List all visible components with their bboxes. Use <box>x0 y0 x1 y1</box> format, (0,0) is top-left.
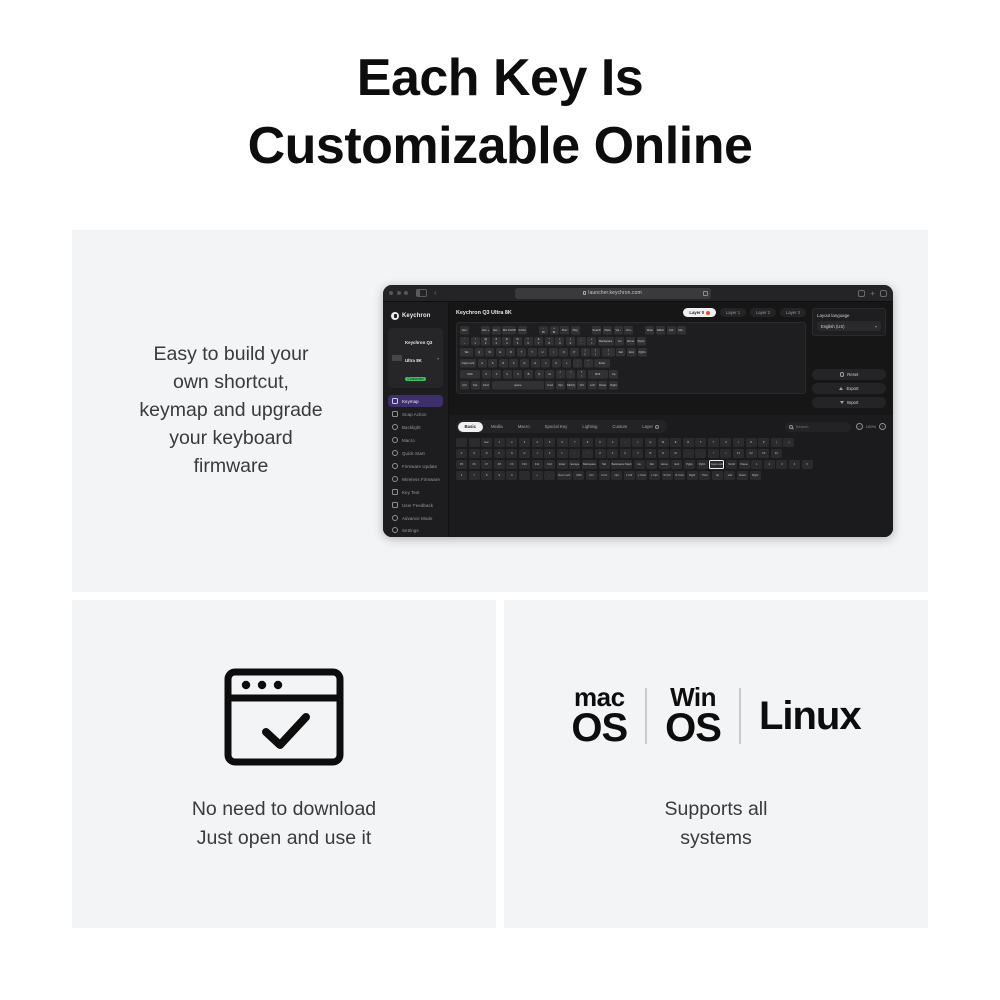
top-card-copy-line: own shortcut, <box>96 368 366 396</box>
keyboard-key[interactable]: Mute <box>645 326 654 335</box>
refresh-icon[interactable] <box>703 291 708 296</box>
sidebar-item-backlight[interactable]: Backlight <box>388 421 443 433</box>
key-picker-key[interactable]: - <box>620 438 631 447</box>
sun-icon <box>392 424 398 430</box>
keyboard-key[interactable]: L <box>562 359 571 368</box>
key-picker-key[interactable]: Tab <box>599 460 610 469</box>
key-picker-key[interactable]: F5 <box>456 460 467 469</box>
brand-logo: Keychron <box>391 312 443 320</box>
sidebar-item-label: User Feedback <box>402 503 433 508</box>
top-card-copy-line: keymap and upgrade <box>96 396 366 424</box>
key-picker-key[interactable]: F8 <box>494 460 505 469</box>
keyboard-key[interactable]: Del <box>616 348 625 357</box>
keyboard-key[interactable]: A <box>478 359 487 368</box>
keyboard-key[interactable]: #3 <box>492 337 501 346</box>
key-picker-key[interactable]: [ <box>771 438 782 447</box>
keyboard-key[interactable]: Effect <box>656 326 665 335</box>
tab-macro[interactable]: Macro <box>511 422 537 432</box>
key-picker-key[interactable]: Backspace Slash <box>611 460 632 469</box>
key-picker-key[interactable]: . <box>695 449 706 458</box>
zoom-in-icon[interactable]: + <box>879 423 886 430</box>
sidebar-item-user-feedback[interactable]: User Feedback <box>388 499 443 511</box>
key-picker-key[interactable]: L Ctrl <box>624 471 635 480</box>
sidebar-item-label: Key Test <box>402 490 420 495</box>
key-picker-key[interactable]: . <box>519 471 530 480</box>
macro-icon <box>392 437 398 443</box>
keyboard-row: EscEsc +Esc -Mic On/OffIn/Out-Br+BrPrevP… <box>460 326 802 335</box>
tab-lighting[interactable]: Lighting <box>575 422 604 432</box>
keyboard-layout[interactable]: EscEsc +Esc -Mic On/OffIn/Out-Br+BrPrevP… <box>456 322 806 394</box>
tab-label: Custom <box>612 424 627 429</box>
key-picker-key[interactable]: End <box>671 460 682 469</box>
sidebar-item-wireless-firmware[interactable]: Wireless Firmware <box>388 473 443 485</box>
tab-layer[interactable]: Layer <box>635 422 666 432</box>
page-root: Each Key Is Customizable Online Easy to … <box>0 0 1000 1000</box>
layout-language-select[interactable]: English (US) ▾ <box>817 321 881 331</box>
key-picker-key[interactable]: L <box>557 449 568 458</box>
keyboard-key[interactable]: Right <box>609 381 618 390</box>
keyboard-key[interactable]: >. <box>566 370 575 379</box>
key-picker-key[interactable]: Escape <box>569 460 580 469</box>
keyboard-key[interactable]: Cmd <box>545 381 554 390</box>
key-picker-key[interactable]: S <box>469 449 480 458</box>
key-picker-key[interactable]: - <box>544 471 555 480</box>
key-picker-key[interactable]: 0 <box>506 471 517 480</box>
reset-button-label: Reset <box>847 372 858 377</box>
keyboard-key[interactable]: Shift <box>588 370 608 379</box>
keyboard-key[interactable]: S <box>488 359 497 368</box>
top-card-copy-line: Easy to build your <box>96 340 366 368</box>
key-picker-key[interactable]: F12 <box>544 460 555 469</box>
chevron-left-icon[interactable]: ‹ <box>434 289 437 297</box>
key-picker-key[interactable]: F <box>494 449 505 458</box>
key-picker-key[interactable]: R Ctrl <box>662 471 673 480</box>
key-picker-key[interactable]: Home <box>659 460 670 469</box>
key-picker-key[interactable]: + <box>532 471 543 480</box>
key-picker-row: ASDFGHJKL;'ZXCVBNM,./\F1F2F3F4 <box>456 449 886 458</box>
keyboard-key[interactable]: Home <box>626 337 635 346</box>
keyboard-key[interactable]: F <box>509 359 518 368</box>
key-picker-key[interactable]: W <box>658 438 669 447</box>
sidebar-nav: Keymap Snap Action Backlight Macro <box>388 395 443 524</box>
key-picker-toolbar: Basic Media Macro Special Key Lighting C… <box>456 420 886 433</box>
keyboard-key[interactable]: O <box>559 348 568 357</box>
keyboard-key[interactable]: Tab <box>460 348 473 357</box>
sidebar-item-key-test[interactable]: Key Test <box>388 486 443 498</box>
keyboard-key[interactable]: Ctrl <box>460 381 469 390</box>
keyboard-key[interactable]: Play <box>571 326 580 335</box>
key-picker-key[interactable]: Del <box>646 460 657 469</box>
layer-tab-1[interactable]: Layer 1 <box>720 308 746 317</box>
keyboard-key[interactable]: Opt <box>556 381 565 390</box>
keyboard-key[interactable]: <, <box>556 370 565 379</box>
layout-language-panel: Layout language English (US) ▾ <box>812 308 886 336</box>
chevron-down-icon[interactable]: ▾ <box>437 356 439 361</box>
reset-button[interactable]: Reset <box>812 369 886 380</box>
keyboard-key[interactable]: Mute <box>603 326 612 335</box>
layer-tab-label: Layer 0 <box>689 310 704 315</box>
sidebar-item-label: Macro <box>402 438 415 443</box>
keyboard-key[interactable]: %5 <box>513 337 522 346</box>
key-picker-key[interactable]: F3 <box>758 449 769 458</box>
keyboard-key[interactable]: &7 <box>534 337 543 346</box>
keyboard-key[interactable]: |\ <box>602 348 615 357</box>
keyboard-key[interactable]: Up <box>609 370 618 379</box>
key-picker-key[interactable]: P <box>758 438 769 447</box>
key-picker-key[interactable]: F4 <box>771 449 782 458</box>
key-picker-key[interactable]: Opt <box>611 471 622 480</box>
key-picker-key[interactable]: J <box>532 449 543 458</box>
key-picker-key[interactable]: R Cmd <box>674 471 685 480</box>
info-icon <box>655 425 659 429</box>
key-picker-key[interactable]: 4 <box>789 460 800 469</box>
layer-tab-label: Layer 2 <box>756 310 770 315</box>
layer-tab-2[interactable]: Layer 2 <box>750 308 776 317</box>
url-bar[interactable]: launcher.keychron.com <box>515 288 711 299</box>
keyboard-key[interactable]: Vol - <box>614 326 623 335</box>
import-button[interactable]: Import <box>812 397 886 408</box>
sidebar-item-advance-mode[interactable]: Advance Mode <box>388 512 443 524</box>
keyboard-key[interactable]: N <box>535 370 544 379</box>
keyboard-key[interactable]: $4 <box>502 337 511 346</box>
key-picker-key[interactable]: Esc <box>481 438 492 447</box>
caption-line: No need to download <box>72 795 496 824</box>
keyboard-key[interactable]: Opt <box>471 381 480 390</box>
keyboard-key[interactable]: J <box>541 359 550 368</box>
key-picker-key[interactable]: Pause <box>739 460 750 469</box>
os-logo-linux: Linux <box>759 698 861 735</box>
keyboard-key[interactable]: }] <box>591 348 600 357</box>
device-selector[interactable]: Keychron Q3 Ultra 8K Connected ▾ <box>388 328 443 388</box>
key-picker-key[interactable]: Num Lock <box>557 471 572 480</box>
key-picker-key[interactable]: Z <box>595 449 606 458</box>
chevron-down-icon: ▾ <box>875 324 877 329</box>
tab-label: Special Key <box>545 424 568 429</box>
keyboard-pane: Keychron Q3 Ultra 8K Layer 0 Layer 1 <box>456 308 806 408</box>
key-picker-key[interactable]: 9 <box>494 471 505 480</box>
keyboard-key[interactable]: += <box>587 337 596 346</box>
keyboard-key[interactable]: Ctrl <box>577 381 586 390</box>
key-picker-key[interactable]: 3 <box>519 438 530 447</box>
keyboard-key-spacer <box>471 326 480 335</box>
snap-icon <box>392 411 398 417</box>
key-picker-grid[interactable]: `Esc1234567890-=QWERTYUIOP[]ASDFGHJKL;'Z… <box>456 438 886 480</box>
key-picker-key[interactable]: Right <box>750 471 761 480</box>
device-text: Keychron Q3 Ultra 8K Connected <box>405 331 434 385</box>
keyboard-key[interactable]: Down <box>598 381 607 390</box>
keyboard-key[interactable]: B <box>524 370 533 379</box>
sidebar-item-settings[interactable]: Settings <box>388 524 443 536</box>
layout-language-title: Layout language <box>817 313 881 318</box>
key-picker-key[interactable]: H <box>519 449 530 458</box>
key-picker-key[interactable]: 1 <box>494 438 505 447</box>
key-picker-key[interactable]: 8 <box>582 438 593 447</box>
key-picker-key[interactable]: 0 <box>607 438 618 447</box>
sidebar-toggle-icon[interactable] <box>416 289 427 297</box>
keyboard-key[interactable]: Vol + <box>624 326 633 335</box>
sidebar-item-label: Settings <box>402 528 419 533</box>
key-picker-key[interactable]: 6 <box>557 438 568 447</box>
keyboard-key[interactable]: -Br <box>539 326 548 335</box>
layer-active-dot-icon <box>706 311 710 315</box>
keyboard-key[interactable]: Shift <box>460 370 480 379</box>
key-picker-key[interactable]: Ins <box>634 460 645 469</box>
key-picker-key[interactable]: V <box>632 449 643 458</box>
keyboard-key[interactable]: Search <box>592 326 602 335</box>
keyboard-key[interactable]: Mic On/Off <box>502 326 516 335</box>
sidebar-item-macro[interactable]: Macro <box>388 434 443 446</box>
key-picker-key[interactable]: = <box>632 438 643 447</box>
key-picker-key[interactable]: 1 <box>751 460 762 469</box>
zoom-level: 100% <box>866 424 876 429</box>
keyboard-key[interactable]: D <box>499 359 508 368</box>
keyboard-key[interactable]: Cmd <box>481 381 490 390</box>
key-picker-key[interactable]: ; <box>569 449 580 458</box>
key-picker-key[interactable]: F10 <box>519 460 530 469</box>
minimize-icon[interactable] <box>397 291 401 295</box>
key-picker-key[interactable]: ` <box>469 438 480 447</box>
keyboard-key[interactable]: PgUp <box>637 337 646 346</box>
key-picker-key[interactable]: G <box>506 449 517 458</box>
keyboard-key[interactable]: M <box>545 370 554 379</box>
keyboard-key[interactable]: space <box>492 381 544 390</box>
keyboard-key[interactable]: _- <box>577 337 586 346</box>
key-picker-key[interactable]: 7 <box>569 438 580 447</box>
key-picker-key[interactable]: I <box>733 438 744 447</box>
bottom-right-caption: Supports all systems <box>504 795 928 853</box>
key-picker-key[interactable]: 4 <box>532 438 543 447</box>
sidebar-item-label: Wireless Firmware <box>402 477 440 482</box>
app-body: Keychron Keychron Q3 Ultra 8K Connected … <box>383 302 893 537</box>
keyboard-key[interactable]: )0 <box>566 337 575 346</box>
tab-label: Media <box>491 424 503 429</box>
key-picker-key[interactable]: 2 <box>764 460 775 469</box>
key-picker-key[interactable]: Print <box>699 471 710 480</box>
url-text: launcher.keychron.com <box>588 290 642 296</box>
export-icon <box>839 387 843 390</box>
keyboard-key[interactable]: P <box>570 348 579 357</box>
sidebar-item-label: Firmware Update <box>402 464 437 469</box>
keyboard-key[interactable]: :; <box>573 359 582 368</box>
key-picker-spacer <box>456 438 467 447</box>
key-picker-key[interactable]: Down <box>737 471 748 480</box>
key-picker-key[interactable]: E <box>670 438 681 447</box>
tab-media[interactable]: Media <box>484 422 510 432</box>
export-button[interactable]: Export <box>812 383 886 394</box>
key-picker-key[interactable]: X <box>607 449 618 458</box>
key-picker-key[interactable]: Up <box>712 471 723 480</box>
key-picker-key[interactable]: C <box>620 449 631 458</box>
key-picker-key[interactable]: Cmd <box>599 471 610 480</box>
keyboard-key[interactable]: (9 <box>555 337 564 346</box>
keyboard-key[interactable]: Prev <box>560 326 569 335</box>
key-picker-key[interactable]: M <box>670 449 681 458</box>
keyboard-key[interactable]: "' <box>584 359 593 368</box>
keyboard-key[interactable]: Esc - <box>492 326 501 335</box>
tab-special-key[interactable]: Special Key <box>538 422 575 432</box>
key-picker-key[interactable]: N <box>658 449 669 458</box>
keyboard-key[interactable]: Z <box>482 370 491 379</box>
key-picker-key[interactable]: 6 <box>456 471 467 480</box>
key-picker-key[interactable]: 5 <box>544 438 555 447</box>
key-picker-key[interactable]: F7 <box>481 460 492 469</box>
chat-icon <box>392 502 398 508</box>
caption-line: systems <box>504 824 928 853</box>
key-picker-key[interactable]: PgDn <box>697 460 708 469</box>
key-picker-key[interactable]: U <box>720 438 731 447</box>
key-picker-key[interactable]: F9 <box>506 460 517 469</box>
sidebar-item-keymap[interactable]: Keymap <box>388 395 443 407</box>
app-sidebar: Keychron Keychron Q3 Ultra 8K Connected … <box>383 302 449 537</box>
key-picker-key[interactable]: L Cmd <box>636 471 647 480</box>
key-picker-key[interactable]: , <box>683 449 694 458</box>
keyboard-key[interactable]: H <box>531 359 540 368</box>
key-picker-key[interactable]: Q <box>645 438 656 447</box>
keyboard-key[interactable]: R <box>506 348 515 357</box>
search-icon <box>789 425 793 429</box>
reset-icon <box>840 372 845 377</box>
tab-label: Basic <box>465 424 476 429</box>
keyboard-key[interactable]: Backspace <box>598 337 614 346</box>
keyboard-key[interactable]: K <box>552 359 561 368</box>
keyboard-key[interactable]: Esc + <box>481 326 490 335</box>
key-picker-key[interactable]: O <box>746 438 757 447</box>
keyboard-key[interactable]: V <box>513 370 522 379</box>
keyboard-key[interactable]: E <box>496 348 505 357</box>
sidebar-item-label: Backlight <box>402 425 421 430</box>
keyboard-key[interactable]: T <box>517 348 526 357</box>
tab-basic[interactable]: Basic <box>458 422 483 432</box>
key-picker-key[interactable]: L Opt <box>649 471 660 480</box>
key-picker-key[interactable]: F11 <box>532 460 543 469</box>
keyboard-key[interactable]: {[ <box>581 348 590 357</box>
browser-actions: + <box>858 290 887 297</box>
key-picker-key[interactable]: D <box>481 449 492 458</box>
key-picker-key[interactable]: 2 <box>506 438 517 447</box>
key-picker-key[interactable]: ' <box>582 449 593 458</box>
key-picker-key[interactable]: 7 <box>469 471 480 480</box>
os-logo-winos: Win OS <box>665 686 721 747</box>
close-icon[interactable] <box>389 291 393 295</box>
key-picker-key[interactable]: Enter <box>557 460 568 469</box>
keyboard-key[interactable]: X <box>492 370 501 379</box>
key-picker-key[interactable]: F6 <box>469 460 480 469</box>
keyboard-key[interactable]: Ins <box>615 337 624 346</box>
keyboard-key[interactable]: Mic... <box>677 326 686 335</box>
key-picker-key[interactable]: PgUp <box>684 460 695 469</box>
sidebar-item-label: Keymap <box>402 399 419 404</box>
keyboard-key-spacer <box>635 326 644 335</box>
settings-sliders-icon <box>392 515 398 521</box>
key-picker-key[interactable]: Shift <box>573 471 584 480</box>
key-picker-key[interactable]: F2 <box>746 449 757 458</box>
key-picker-key[interactable]: Ctrl <box>586 471 597 480</box>
maximize-icon[interactable] <box>404 291 408 295</box>
keyboard-key[interactable]: Ctrl <box>667 326 676 335</box>
key-picker-key[interactable]: K <box>544 449 555 458</box>
keyboard-key[interactable]: U <box>538 348 547 357</box>
zoom-out-icon[interactable]: − <box>856 423 863 430</box>
keyboard-key[interactable]: In/Out <box>518 326 527 335</box>
brand-name: Keychron <box>402 313 430 319</box>
browser-window-check-icon <box>224 668 344 766</box>
key-picker-key[interactable]: Scroll <box>726 460 737 469</box>
key-picker-key[interactable]: A <box>456 449 467 458</box>
keyboard-key[interactable]: End <box>627 348 636 357</box>
keyboard-key[interactable]: MO(1) <box>567 381 576 390</box>
plus-icon[interactable]: + <box>870 290 875 297</box>
layer-tab-3[interactable]: Layer 3 <box>780 308 806 317</box>
key-picker-key[interactable]: Right <box>687 471 698 480</box>
keyboard-key[interactable]: C <box>503 370 512 379</box>
top-card-copy-line: your keyboard <box>96 424 366 452</box>
key-picker-key[interactable]: Backspace <box>582 460 597 469</box>
key-picker-key[interactable]: 8 <box>481 471 492 480</box>
sidebar-item-quick-start[interactable]: Quick Start <box>388 447 443 459</box>
key-picker-key[interactable]: ] <box>783 438 794 447</box>
share-icon[interactable] <box>858 290 865 297</box>
tab-label: Lighting <box>582 424 597 429</box>
key-picker-key[interactable]: R <box>683 438 694 447</box>
keyboard-key[interactable]: Esc <box>460 326 469 335</box>
sidebar-item-snap-action[interactable]: Snap Action <box>388 408 443 420</box>
key-picker-key[interactable]: Left <box>724 471 735 480</box>
key-picker-key[interactable]: T <box>695 438 706 447</box>
search-input[interactable]: Search <box>785 422 851 432</box>
keyboard-key[interactable]: *8 <box>545 337 554 346</box>
tab-custom[interactable]: Custom <box>605 422 634 432</box>
sidebar-item-label: Advance Mode <box>402 516 433 521</box>
key-picker-key[interactable]: Y <box>708 438 719 447</box>
keyboard-key[interactable]: Caps Lock <box>460 359 476 368</box>
import-button-label: Import <box>847 400 859 405</box>
key-picker-key[interactable]: Caps Lock <box>709 460 724 469</box>
sidebar-item-firmware-update[interactable]: Firmware Update <box>388 460 443 472</box>
keyboard-key[interactable]: `~ <box>460 337 469 346</box>
lock-icon <box>583 291 586 295</box>
tabs-icon[interactable] <box>880 290 887 297</box>
keyboard-key[interactable]: Q <box>475 348 484 357</box>
keyboard-key[interactable]: G <box>520 359 529 368</box>
keyboard-row: CtrlOptCmdspaceCmdOptMO(1)CtrlLeftDownRi… <box>460 381 802 390</box>
key-picker-key[interactable]: 5 <box>802 460 813 469</box>
keyboard-key[interactable]: !1 <box>471 337 480 346</box>
keyboard-key[interactable]: I <box>549 348 558 357</box>
keyboard-key[interactable]: Left <box>588 381 597 390</box>
picker-right-controls: Search − 100% + <box>785 422 886 432</box>
keyboard-key[interactable]: W <box>485 348 494 357</box>
keyboard-key[interactable]: ?/ <box>577 370 586 379</box>
keyboard-key[interactable]: ^6 <box>524 337 533 346</box>
page-title-line-2: Customizable Online <box>0 112 1000 180</box>
keyboard-key[interactable]: Y <box>528 348 537 357</box>
keyboard-key[interactable]: PgDn <box>638 348 647 357</box>
key-picker-key[interactable]: 3 <box>776 460 787 469</box>
key-picker-key[interactable]: B <box>645 449 656 458</box>
tab-label: Layer <box>642 424 653 429</box>
keyboard-key[interactable]: Enter <box>594 359 610 368</box>
layer-tab-0[interactable]: Layer 0 <box>683 308 716 317</box>
divider <box>645 688 647 744</box>
traffic-lights[interactable] <box>389 291 408 295</box>
os-logo-macos: mac OS <box>571 686 627 747</box>
key-picker-key[interactable]: 9 <box>595 438 606 447</box>
key-picker-key[interactable]: \ <box>720 449 731 458</box>
key-picker-key[interactable]: F1 <box>733 449 744 458</box>
key-picker-key[interactable]: / <box>708 449 719 458</box>
keyboard-key[interactable]: @2 <box>481 337 490 346</box>
keyboard-key[interactable]: +Br <box>550 326 559 335</box>
